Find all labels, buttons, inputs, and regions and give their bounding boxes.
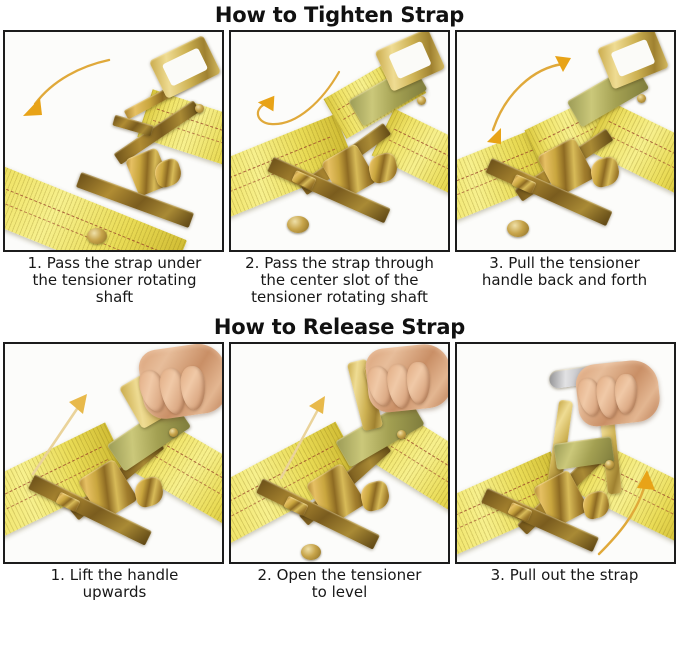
- photo-panel-release-step-2: [229, 342, 450, 564]
- panel-row-tighten: [0, 30, 679, 252]
- photo-strap-through-center-slot: [231, 32, 448, 250]
- section-title-tighten: How to Tighten Strap: [0, 0, 679, 30]
- photo-lift-handle-upwards: [5, 344, 222, 562]
- ratchet-axle-bolt: [87, 228, 107, 244]
- panel-row-release: [0, 342, 679, 564]
- photo-panel-tighten-step-3: [455, 30, 676, 252]
- caption-line: 2. Open the tensioner: [258, 566, 422, 584]
- caption-line: 1. Lift the handle: [51, 566, 179, 584]
- caption-release-step-1: 1. Lift the handle upwards: [2, 567, 227, 601]
- caption-tighten-step-2: 2. Pass the strap through the center slo…: [227, 255, 452, 306]
- ratchet-axle-bolt: [507, 220, 529, 237]
- caption-line: upwards: [83, 583, 147, 601]
- caption-release-step-3: 3. Pull out the strap: [452, 567, 677, 601]
- caption-release-step-2: 2. Open the tensioner to level: [227, 567, 452, 601]
- ratchet-frame-rivet: [195, 104, 204, 113]
- section-title-release: How to Release Strap: [0, 312, 679, 342]
- caption-tighten-step-1: 1. Pass the strap under the tensioner ro…: [2, 255, 227, 306]
- caption-line: the center slot of the: [260, 271, 418, 289]
- photo-panel-tighten-step-2: [229, 30, 450, 252]
- ratchet-axle-bolt: [287, 216, 309, 233]
- instruction-graphic: How to Tighten Strap: [0, 0, 679, 650]
- caption-line: 1. Pass the strap under: [28, 254, 202, 272]
- caption-line: tensioner rotating shaft: [251, 288, 428, 306]
- caption-tighten-step-3: 3. Pull the tensioner handle back and fo…: [452, 255, 677, 306]
- photo-open-tensioner-to-level: [231, 344, 448, 562]
- photo-panel-release-step-1: [3, 342, 224, 564]
- ratchet-frame-rivet: [605, 460, 614, 469]
- photo-pull-out-the-strap: [457, 344, 674, 562]
- ratchet-frame-rivet: [169, 428, 178, 437]
- ratchet-end-hook: [358, 479, 392, 513]
- caption-row-release: 1. Lift the handle upwards 2. Open the t…: [0, 564, 679, 601]
- ratchet-axle-bolt: [301, 544, 321, 560]
- caption-row-tighten: 1. Pass the strap under the tensioner ro…: [0, 252, 679, 306]
- photo-panel-tighten-step-1: [3, 30, 224, 252]
- ratchet-frame-rivet: [637, 94, 646, 103]
- ratchet-frame-rivet: [397, 430, 406, 439]
- caption-line: 2. Pass the strap through: [245, 254, 434, 272]
- photo-ratchet-strap-under-shaft: [5, 32, 222, 250]
- caption-line: handle back and forth: [482, 271, 647, 289]
- caption-line: 3. Pull out the strap: [491, 566, 639, 584]
- caption-line: to level: [312, 583, 368, 601]
- photo-panel-release-step-3: [455, 342, 676, 564]
- caption-line: shaft: [96, 288, 133, 306]
- caption-line: the tensioner rotating: [33, 271, 197, 289]
- caption-line: 3. Pull the tensioner: [489, 254, 640, 272]
- curved-arrow-down-left-icon: [9, 54, 119, 144]
- ratchet-frame-rivet: [417, 96, 426, 105]
- photo-pull-handle-back-forth: [457, 32, 674, 250]
